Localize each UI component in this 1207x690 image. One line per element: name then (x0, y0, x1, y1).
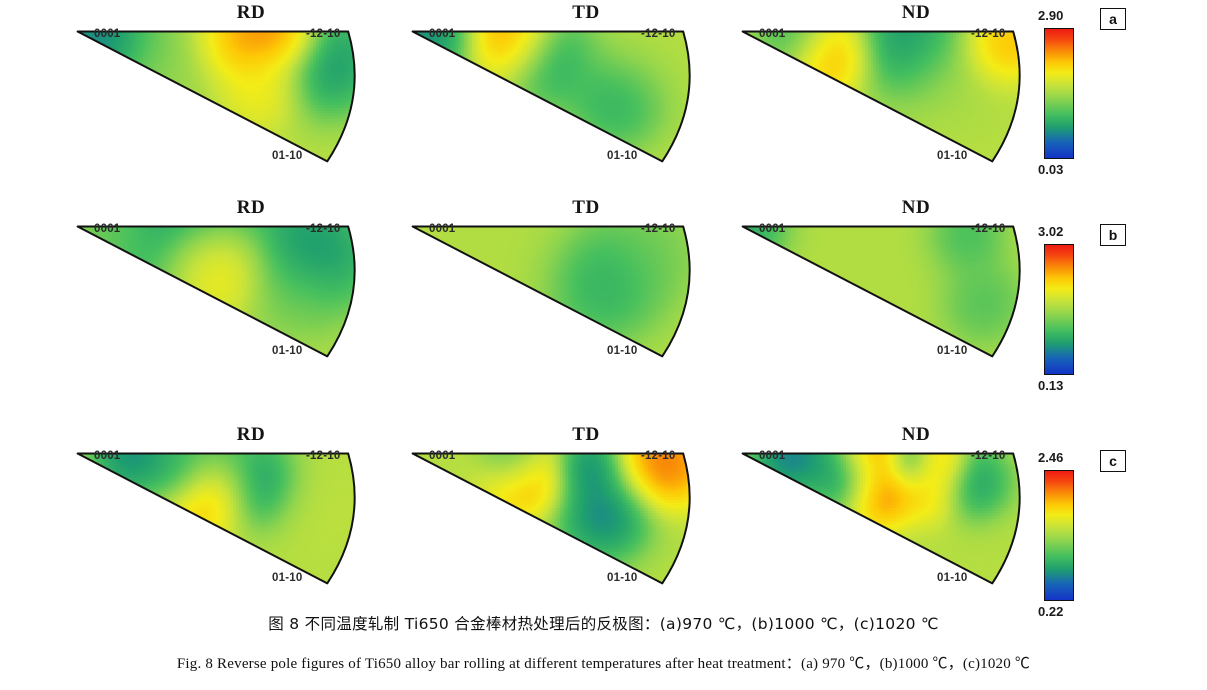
vertex-label-12-10: -12-10 (306, 450, 340, 462)
vertex-label-0001: 0001 (429, 223, 455, 235)
vertex-label-12-10: -12-10 (971, 28, 1005, 40)
ipf-panel-b-rd: RD 0001-12-1001-10 (60, 195, 390, 385)
figure-caption-chinese: 图 8 不同温度轧制 Ti650 合金棒材热处理后的反极图：(a)970 ℃，(… (0, 612, 1207, 634)
vertex-label-0001: 0001 (429, 28, 455, 40)
ipf-triangle-b-rd: 0001-12-1001-10 (60, 217, 390, 377)
ipf-panel-a-td: TD 0001-12-1001-10 (395, 0, 725, 190)
panel-title-rd: RD (60, 424, 390, 446)
colorbar-max-label: 2.46 (1038, 450, 1063, 465)
vertex-label-12-10: -12-10 (641, 223, 675, 235)
ipf-triangle-b-td: 0001-12-1001-10 (395, 217, 725, 377)
vertex-label-01-10: 01-10 (272, 150, 302, 162)
vertex-label-0001: 0001 (94, 28, 120, 40)
vertex-label-0001: 0001 (429, 450, 455, 462)
ipf-panel-c-nd: ND 0001-12-1001-10 (725, 422, 1055, 612)
vertex-label-01-10: 01-10 (272, 572, 302, 584)
ipf-panel-b-nd: ND 0001-12-1001-10 (725, 195, 1055, 385)
colorbar-max-label: 2.90 (1038, 8, 1063, 23)
vertex-label-0001: 0001 (94, 450, 120, 462)
vertex-label-12-10: -12-10 (971, 223, 1005, 235)
colorbar-gradient (1044, 28, 1074, 159)
ipf-panel-b-td: TD 0001-12-1001-10 (395, 195, 725, 385)
vertex-label-01-10: 01-10 (937, 572, 967, 584)
panel-tag-b: b (1100, 224, 1126, 246)
ipf-triangle-c-rd: 0001-12-1001-10 (60, 444, 390, 604)
vertex-label-12-10: -12-10 (306, 223, 340, 235)
panel-title-nd: ND (725, 424, 1055, 446)
ipf-panel-c-td: TD 0001-12-1001-10 (395, 422, 725, 612)
vertex-label-12-10: -12-10 (306, 28, 340, 40)
vertex-label-01-10: 01-10 (937, 345, 967, 357)
vertex-label-0001: 0001 (759, 28, 785, 40)
ipf-panel-a-rd: RD 0001-12-1001-10 (60, 0, 390, 190)
colorbar-gradient (1044, 470, 1074, 601)
colorbar-min-label: 0.13 (1038, 378, 1063, 393)
figure-area: RD 0001-12-1001-10 TD 0001-12-1001-10 ND… (0, 0, 1207, 612)
colorbar-min-label: 0.03 (1038, 162, 1063, 177)
ipf-triangle-b-nd: 0001-12-1001-10 (725, 217, 1055, 377)
vertex-label-01-10: 01-10 (272, 345, 302, 357)
ipf-triangle-c-td: 0001-12-1001-10 (395, 444, 725, 604)
panel-tag-c: c (1100, 450, 1126, 472)
vertex-label-12-10: -12-10 (641, 28, 675, 40)
vertex-label-12-10: -12-10 (971, 450, 1005, 462)
ipf-panel-a-nd: ND 0001-12-1001-10 (725, 0, 1055, 190)
panel-title-nd: ND (725, 2, 1055, 24)
ipf-triangle-a-nd: 0001-12-1001-10 (725, 22, 1055, 182)
figure-caption-english: Fig. 8 Reverse pole figures of Ti650 all… (0, 652, 1207, 673)
panel-title-td: TD (395, 2, 725, 24)
vertex-label-01-10: 01-10 (607, 572, 637, 584)
colorbar-gradient (1044, 244, 1074, 375)
vertex-label-0001: 0001 (94, 223, 120, 235)
ipf-triangle-a-td: 0001-12-1001-10 (395, 22, 725, 182)
panel-title-td: TD (395, 197, 725, 219)
vertex-label-01-10: 01-10 (607, 345, 637, 357)
vertex-label-0001: 0001 (759, 223, 785, 235)
panel-title-rd: RD (60, 197, 390, 219)
colorbar-max-label: 3.02 (1038, 224, 1063, 239)
vertex-label-01-10: 01-10 (607, 150, 637, 162)
panel-title-rd: RD (60, 2, 390, 24)
panel-title-td: TD (395, 424, 725, 446)
vertex-label-01-10: 01-10 (937, 150, 967, 162)
ipf-triangle-c-nd: 0001-12-1001-10 (725, 444, 1055, 604)
ipf-triangle-a-rd: 0001-12-1001-10 (60, 22, 390, 182)
vertex-label-12-10: -12-10 (641, 450, 675, 462)
panel-tag-a: a (1100, 8, 1126, 30)
ipf-panel-c-rd: RD 0001-12-1001-10 (60, 422, 390, 612)
panel-title-nd: ND (725, 197, 1055, 219)
vertex-label-0001: 0001 (759, 450, 785, 462)
